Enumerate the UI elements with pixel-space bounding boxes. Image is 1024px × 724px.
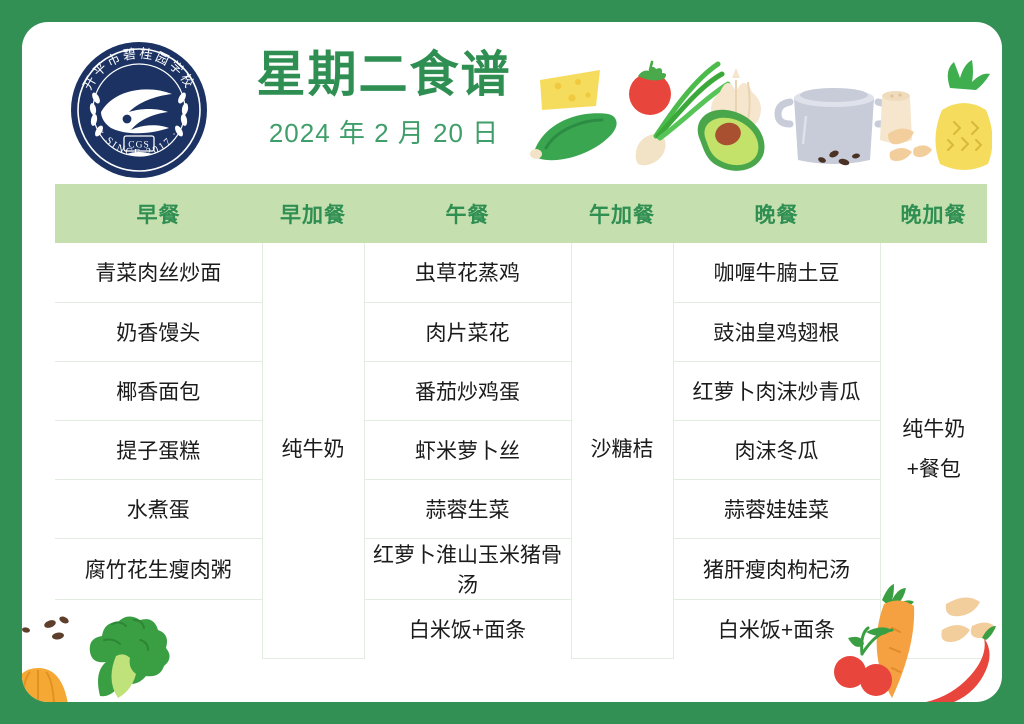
table-header-row: 早餐 早加餐 午餐 午加餐 晚餐 晚加餐	[55, 184, 987, 243]
cell-dinner-5: 蒜蓉娃娃菜	[673, 479, 880, 538]
column-header-evening-snack: 晚加餐	[880, 184, 987, 243]
cell-evening-snack: 纯牛奶 +餐包	[880, 243, 987, 658]
cashew-icon	[888, 128, 932, 161]
cell-morning-snack: 纯牛奶	[262, 243, 364, 658]
school-logo: CGS	[69, 40, 209, 180]
top-food-decorations	[522, 38, 992, 186]
column-header-lunch: 午餐	[364, 184, 571, 243]
column-header-morning-snack: 早加餐	[262, 184, 364, 243]
cheese-icon	[540, 70, 600, 110]
table-row: 腐竹花生瘦肉粥 红萝卜淮山玉米猪骨汤 猪肝瘦肉枸杞汤	[55, 538, 987, 599]
pumpkin-icon	[22, 668, 68, 702]
cell-breakfast-1: 青菜肉丝炒面	[55, 243, 262, 302]
table-row: 水煮蛋 蒜蓉生菜 蒜蓉娃娃菜	[55, 479, 987, 538]
menu-table: 早餐 早加餐 午餐 午加餐 晚餐 晚加餐 青菜肉丝炒面 纯牛奶 虫草花蒸鸡 沙糖…	[55, 184, 987, 659]
table-row: 白米饭+面条 白米饭+面条	[55, 599, 987, 658]
cell-dinner-1: 咖喱牛腩土豆	[673, 243, 880, 302]
cell-breakfast-6: 腐竹花生瘦肉粥	[55, 538, 262, 599]
poster-card: CGS	[22, 22, 1002, 702]
poster-header: CGS	[22, 22, 1002, 182]
cell-lunch-6: 红萝卜淮山玉米猪骨汤	[364, 538, 571, 599]
table-row: 提子蛋糕 虾米萝卜丝 肉沫冬瓜	[55, 420, 987, 479]
page-date: 2024 年 2 月 20 日	[234, 113, 534, 150]
cell-dinner-7: 白米饭+面条	[673, 599, 880, 658]
cell-dinner-2: 豉油皇鸡翅根	[673, 302, 880, 361]
cell-afternoon-snack: 沙糖桔	[571, 243, 673, 658]
menu-table-wrap: 早餐 早加餐 午餐 午加餐 晚餐 晚加餐 青菜肉丝炒面 纯牛奶 虫草花蒸鸡 沙糖…	[55, 184, 975, 659]
cell-lunch-5: 蒜蓉生菜	[364, 479, 571, 538]
column-header-dinner: 晚餐	[673, 184, 880, 243]
cell-lunch-7: 白米饭+面条	[364, 599, 571, 658]
title-block: 星期二食谱 2024 年 2 月 20 日	[234, 50, 534, 150]
cell-dinner-4: 肉沫冬瓜	[673, 420, 880, 479]
cell-breakfast-3: 椰香面包	[55, 361, 262, 420]
cell-lunch-3: 番茄炒鸡蛋	[364, 361, 571, 420]
table-row: 椰香面包 番茄炒鸡蛋 红萝卜肉沫炒青瓜	[55, 361, 987, 420]
page-title: 星期二食谱	[234, 50, 534, 101]
cell-breakfast-2: 奶香馒头	[55, 302, 262, 361]
cell-dinner-3: 红萝卜肉沫炒青瓜	[673, 361, 880, 420]
menu-poster: CGS	[0, 0, 1024, 724]
column-header-breakfast: 早餐	[55, 184, 262, 243]
table-row: 青菜肉丝炒面 纯牛奶 虫草花蒸鸡 沙糖桔 咖喱牛腩土豆 纯牛奶 +餐包	[55, 243, 987, 302]
cell-breakfast-7	[55, 599, 262, 658]
pineapple-icon	[935, 60, 992, 170]
cell-breakfast-4: 提子蛋糕	[55, 420, 262, 479]
evening-snack-line-1: 纯牛奶	[885, 410, 984, 450]
cell-lunch-1: 虫草花蒸鸡	[364, 243, 571, 302]
cell-breakfast-5: 水煮蛋	[55, 479, 262, 538]
zucchini-icon	[530, 113, 617, 160]
evening-snack-line-2: +餐包	[885, 450, 984, 490]
table-row: 奶香馒头 肉片菜花 豉油皇鸡翅根	[55, 302, 987, 361]
cell-dinner-6: 猪肝瘦肉枸杞汤	[673, 538, 880, 599]
cell-lunch-2: 肉片菜花	[364, 302, 571, 361]
tomato-icon	[629, 62, 671, 115]
cell-lunch-4: 虾米萝卜丝	[364, 420, 571, 479]
column-header-afternoon-snack: 午加餐	[571, 184, 673, 243]
